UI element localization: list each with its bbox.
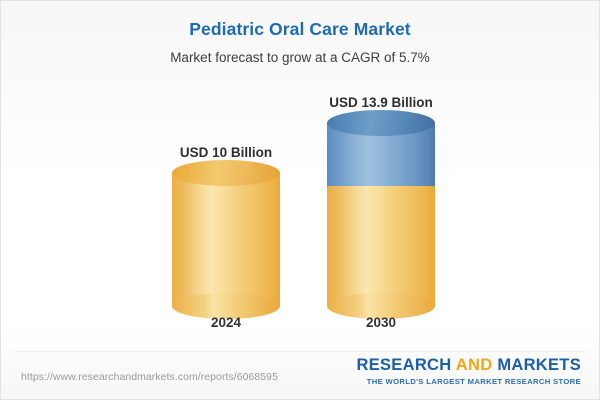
brand-logo[interactable]: RESEARCH AND MARKETS THE WORLD'S LARGEST…: [356, 357, 581, 386]
page-title: Pediatric Oral Care Market: [1, 19, 599, 40]
brand-word-research: RESEARCH: [356, 356, 451, 374]
bar-segment-base-2030: [327, 186, 435, 306]
bar-segment-body: [172, 173, 280, 306]
bar-value-label-2030: USD 13.9 Billion: [286, 95, 476, 110]
brand-tagline: THE WORLD'S LARGEST MARKET RESEARCH STOR…: [356, 377, 581, 386]
bar-group-2030: USD 13.9 Billion 2030: [286, 87, 476, 337]
brand-logo-wordmark: RESEARCH AND MARKETS: [356, 357, 581, 374]
brand-word-and: AND: [456, 356, 493, 374]
bar-category-label-2030: 2030: [286, 315, 476, 330]
bar-cylinder-2030: [327, 123, 435, 306]
bar-segment-cap: [327, 110, 435, 136]
bar-segment-base-2024: [172, 173, 280, 306]
footer-divider: [15, 351, 585, 352]
brand-word-markets: MARKETS: [497, 356, 581, 374]
bar-segment-cap: [172, 160, 280, 186]
chart-plot-area: USD 10 Billion 2024 USD 13.9 Billion: [1, 87, 600, 337]
bar-segment-growth-2030: [327, 123, 435, 186]
chart-header: Pediatric Oral Care Market Market foreca…: [1, 19, 599, 66]
chart-subtitle: Market forecast to grow at a CAGR of 5.7…: [1, 50, 599, 66]
infographic-card: Pediatric Oral Care Market Market foreca…: [0, 0, 600, 400]
bar-segment-body: [327, 186, 435, 306]
bar-cylinder-2024: [172, 173, 280, 306]
report-url[interactable]: https://www.researchandmarkets.com/repor…: [21, 371, 278, 383]
